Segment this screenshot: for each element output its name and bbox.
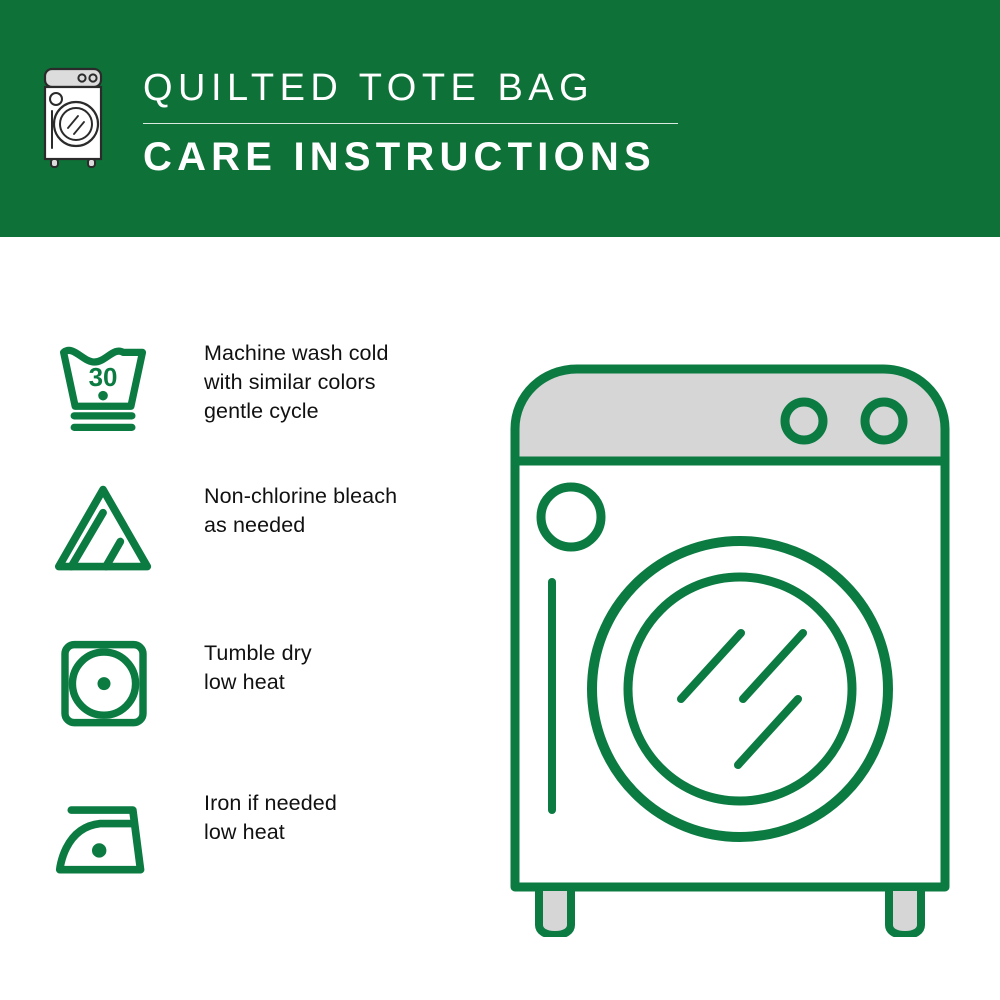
care-line: gentle cycle — [204, 397, 389, 426]
machine-body — [515, 461, 945, 887]
care-line: Non-chlorine bleach — [204, 482, 397, 511]
washing-machine-logo-icon — [42, 66, 104, 170]
care-item-iron: Iron if needed low heat — [48, 787, 478, 887]
non-chlorine-bleach-symbol — [48, 480, 160, 580]
foot-right — [889, 887, 921, 935]
care-line: Machine wash cold — [204, 339, 389, 368]
care-item-bleach: Non-chlorine bleach as needed — [48, 480, 478, 580]
care-line: low heat — [204, 668, 312, 697]
header-title-group: QUILTED TOTE BAG CARE INSTRUCTIONS — [143, 64, 703, 181]
iron-low-heat-symbol — [48, 787, 160, 887]
care-line: low heat — [204, 818, 337, 847]
foot-left — [539, 887, 571, 935]
wash-temperature-value: 30 — [89, 362, 118, 392]
care-text-machine-wash: Machine wash cold with similar colors ge… — [204, 337, 389, 426]
care-item-machine-wash: 30 Machine wash cold with similar colors… — [48, 337, 478, 437]
tumble-dry-low-heat-symbol — [48, 637, 160, 734]
machine-wash-30-gentle-symbol: 30 — [48, 337, 160, 437]
front-load-washing-machine-illustration — [495, 337, 965, 937]
title-divider — [143, 123, 678, 124]
care-line: as needed — [204, 511, 397, 540]
care-line: Tumble dry — [204, 639, 312, 668]
care-text-iron: Iron if needed low heat — [204, 787, 337, 847]
header-banner: QUILTED TOTE BAG CARE INSTRUCTIONS — [0, 0, 1000, 237]
page-title-secondary: CARE INSTRUCTIONS — [143, 133, 703, 181]
care-instructions-infographic: QUILTED TOTE BAG CARE INSTRUCTIONS 30 — [0, 0, 1000, 1000]
body-content: 30 Machine wash cold with similar colors… — [0, 237, 1000, 1000]
control-panel — [515, 369, 945, 461]
care-symbol-list: 30 Machine wash cold with similar colors… — [0, 237, 480, 1000]
care-text-tumble-dry: Tumble dry low heat — [204, 637, 312, 697]
care-item-tumble-dry: Tumble dry low heat — [48, 637, 478, 734]
care-line: with similar colors — [204, 368, 389, 397]
care-line: Iron if needed — [204, 789, 337, 818]
care-text-bleach: Non-chlorine bleach as needed — [204, 480, 397, 540]
page-title-primary: QUILTED TOTE BAG — [143, 64, 703, 112]
